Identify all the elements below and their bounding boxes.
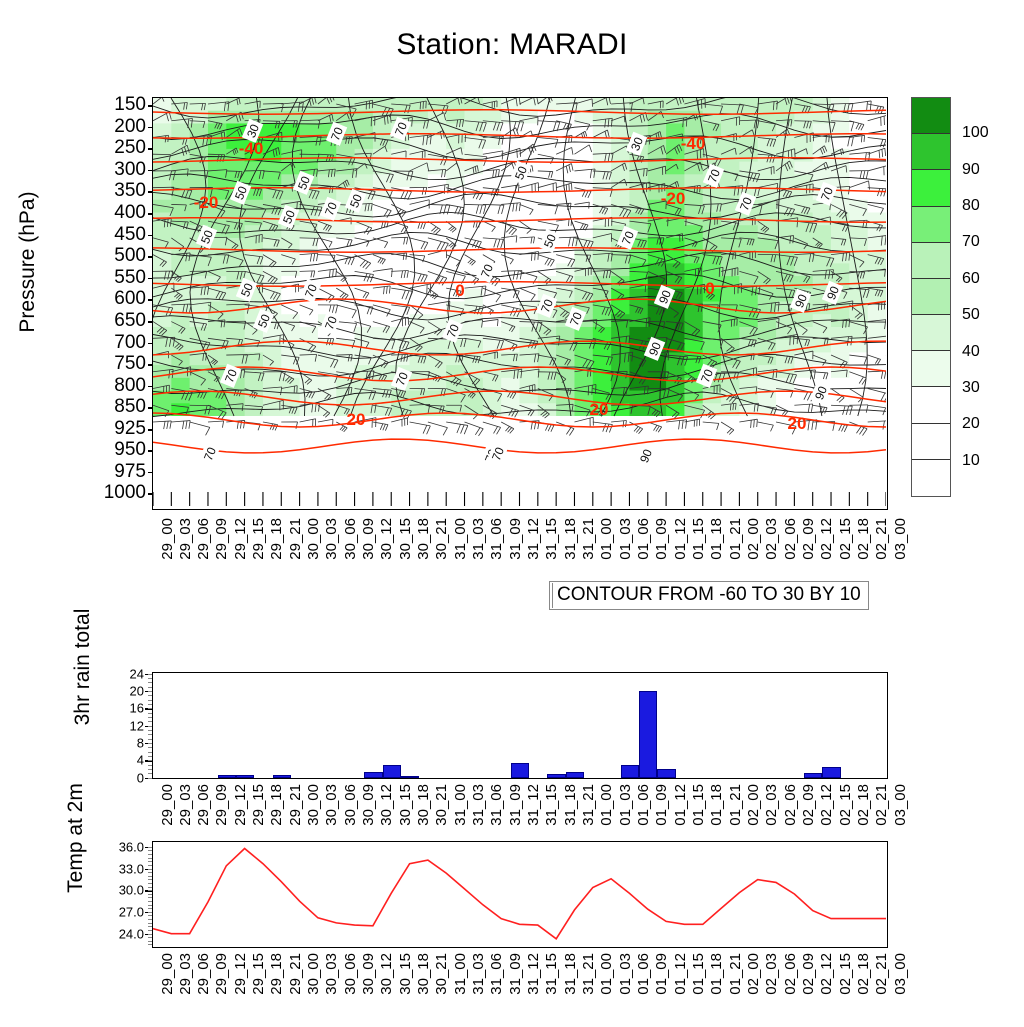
rain-bar[interactable] (566, 772, 584, 778)
x-tick-label: 30_18 (416, 953, 431, 1027)
x-tick-label: 02_09 (801, 953, 816, 1027)
temperature-contour-label: -20 (194, 193, 219, 212)
x-tick-label: 30_21 (434, 518, 449, 592)
x-tick-label: 29_00 (160, 953, 175, 1027)
x-tick-label: 31_12 (526, 518, 541, 592)
colorbar-cell (912, 243, 950, 279)
temperature-contour-label: 0 (455, 281, 464, 300)
temp-y-tick-labels: 24.027.030.033.036.0 (88, 841, 148, 948)
x-tick-label: 29_21 (288, 518, 303, 592)
x-tick-label: 31_15 (544, 953, 559, 1027)
x-tick-label: 30_15 (398, 518, 413, 592)
x-tick-label: 03_00 (893, 953, 908, 1027)
rain-bar-chart[interactable] (152, 672, 888, 779)
colorbar-cell (912, 207, 950, 243)
rain-bar[interactable] (639, 691, 657, 778)
x-tick-label: 29_03 (178, 953, 193, 1027)
temperature-contour-label: -40 (239, 139, 264, 158)
pressure-tick-label: 650 (88, 310, 146, 332)
colorbar-tick-label: 80 (962, 197, 980, 215)
x-tick-label: 29_18 (269, 953, 284, 1027)
x-tick-label: 01_09 (654, 953, 669, 1027)
x-tick-label: 30_00 (306, 518, 321, 592)
x-tick-label: 30_12 (379, 953, 394, 1027)
rain-tick-label: 24 (100, 666, 144, 681)
pressure-tick-label: 975 (88, 461, 146, 483)
temperature-contour-label: 20 (590, 400, 609, 419)
temperature-contour-label: -20 (661, 189, 686, 208)
x-tick-label: 29_15 (251, 518, 266, 592)
pressure-tick-label: 700 (88, 332, 146, 354)
x-tick-label: 30_09 (361, 518, 376, 592)
pressure-tick-label: 600 (88, 288, 146, 310)
x-tick-label: 01_18 (709, 953, 724, 1027)
x-tick-label: 03_00 (893, 784, 908, 858)
colorbar-tick-label: 10 (962, 452, 980, 470)
x-tick-label: 31_00 (453, 518, 468, 592)
x-tick-label: 02_00 (746, 953, 761, 1027)
x-tick-label: 30_09 (361, 953, 376, 1027)
x-tick-label: 29_09 (214, 518, 229, 592)
rain-bar[interactable] (822, 767, 840, 778)
rain-tick-label: 8 (100, 735, 144, 750)
x-tick-label: 29_00 (160, 518, 175, 592)
pressure-tick-label: 800 (88, 375, 146, 397)
sounding-svg: -40-40-20-200020202030707050505070707070… (153, 98, 886, 508)
rain-bar[interactable] (218, 775, 236, 778)
x-tick-label: 30_06 (343, 518, 358, 592)
colorbar-tick-label: 100 (962, 124, 989, 142)
x-tick-label: 31_21 (581, 953, 596, 1027)
x-tick-label: 03_00 (893, 518, 908, 592)
x-tick-label: 02_03 (764, 953, 779, 1027)
temperature-line (153, 849, 886, 939)
x-tick-label: 31_12 (526, 953, 541, 1027)
pressure-tick-label: 950 (88, 439, 146, 461)
pressure-tick-label: 250 (88, 137, 146, 159)
temp-tick-label: 30.0 (88, 883, 144, 898)
rain-y-axis-label: 3hr rain total (71, 577, 95, 757)
rain-bar[interactable] (621, 765, 639, 778)
pressure-tick-label: 750 (88, 353, 146, 375)
pressure-tick-label: 350 (88, 180, 146, 202)
x-tick-label: 29_21 (288, 953, 303, 1027)
rain-tick-label: 12 (100, 718, 144, 733)
pressure-tick-label: 550 (88, 267, 146, 289)
x-tick-label: 02_21 (874, 518, 889, 592)
x-tick-label: 01_21 (728, 953, 743, 1027)
rain-bar[interactable] (383, 765, 401, 778)
temperature-line-chart[interactable] (152, 841, 888, 948)
x-tick-label: 30_21 (434, 953, 449, 1027)
rain-tick-label: 4 (100, 753, 144, 768)
colorbar-tick-label: 90 (962, 161, 980, 179)
sounding-cross-section-plot[interactable]: -40-40-20-200020202030707050505070707070… (152, 97, 888, 510)
colorbar-tick-label: 70 (962, 233, 980, 251)
temp-tick-label: 24.0 (88, 926, 144, 941)
rain-bar[interactable] (401, 776, 419, 778)
pressure-tick-label: 300 (88, 159, 146, 181)
rain-bar[interactable] (657, 769, 675, 778)
contour-interval-note: CONTOUR FROM -60 TO 30 BY 10 (549, 581, 869, 610)
x-tick-label: 30_12 (379, 518, 394, 592)
main-y-tick-labels: 1502002503003504004505005506006507007508… (86, 97, 146, 510)
rain-tick-label: 0 (100, 770, 144, 785)
x-tick-label: 01_00 (599, 953, 614, 1027)
chart-page: Station: MARADI Pressure (hPa) 150200250… (0, 0, 1024, 1024)
humidity-colorbar[interactable] (911, 97, 951, 497)
x-tick-label: 01_15 (691, 953, 706, 1027)
rain-bar[interactable] (547, 774, 565, 778)
temp-x-axis-labels: 29_0029_0329_0629_0929_1229_1529_1829_21… (152, 953, 888, 1027)
x-tick-label: 29_18 (269, 518, 284, 592)
temperature-contour-label: 0 (705, 279, 714, 298)
page-title: Station: MARADI (0, 28, 1024, 62)
colorbar-tick-label: 40 (962, 343, 980, 361)
x-tick-label: 29_15 (251, 953, 266, 1027)
x-tick-label: 29_09 (214, 953, 229, 1027)
colorbar-cell (912, 460, 950, 496)
x-tick-label: 30_03 (324, 953, 339, 1027)
x-tick-label: 02_06 (783, 953, 798, 1027)
temperature-contour-label: 20 (788, 414, 807, 433)
x-tick-label: 29_12 (233, 518, 248, 592)
colorbar-tick-label: 20 (962, 415, 980, 433)
x-tick-label: 30_18 (416, 518, 431, 592)
temp-y-axis-label: Temp at 2m (64, 748, 88, 928)
rain-tick-label: 20 (100, 683, 144, 698)
pressure-tick-label: 500 (88, 245, 146, 267)
x-tick-label: 30_06 (343, 953, 358, 1027)
colorbar-cell (912, 134, 950, 170)
x-tick-label: 02_15 (838, 953, 853, 1027)
x-tick-label: 30_00 (306, 953, 321, 1027)
rain-bar[interactable] (364, 772, 382, 779)
x-tick-label: 29_06 (196, 518, 211, 592)
x-tick-label: 01_03 (618, 953, 633, 1027)
colorbar-tick-label: 30 (962, 379, 980, 397)
x-tick-label: 29_06 (196, 953, 211, 1027)
x-tick-label: 02_12 (819, 953, 834, 1027)
pressure-tick-label: 925 (88, 418, 146, 440)
x-tick-label: 01_12 (673, 953, 688, 1027)
x-tick-label: 31_18 (563, 953, 578, 1027)
pressure-tick-label: 150 (88, 94, 146, 116)
x-tick-label: 31_03 (471, 518, 486, 592)
temp-tick-label: 36.0 (88, 839, 144, 854)
colorbar-cell (912, 279, 950, 315)
pressure-tick-label: 200 (88, 116, 146, 138)
rain-bar[interactable] (804, 773, 822, 778)
x-tick-label: 02_18 (856, 953, 871, 1027)
x-tick-label: 01_06 (636, 953, 651, 1027)
temp-tick-label: 33.0 (88, 861, 144, 876)
rain-tick-label: 16 (100, 701, 144, 716)
temperature-svg (153, 842, 886, 946)
x-tick-label: 29_03 (178, 518, 193, 592)
colorbar-cell (912, 424, 950, 460)
colorbar-cell (912, 98, 950, 134)
pressure-tick-label: 450 (88, 224, 146, 246)
x-tick-label: 31_09 (508, 953, 523, 1027)
rain-y-tick-labels: 04812162024 (100, 672, 148, 779)
temperature-contour-label: -40 (681, 134, 706, 153)
colorbar-tick-label: 50 (962, 306, 980, 324)
rain-bar[interactable] (511, 763, 529, 778)
rain-bar[interactable] (236, 775, 254, 778)
pressure-tick-label: 1000 (88, 482, 146, 504)
x-tick-label: 29_12 (233, 953, 248, 1027)
pressure-tick-label: 400 (88, 202, 146, 224)
x-tick-label: 02_21 (874, 953, 889, 1027)
x-tick-label: 30_15 (398, 953, 413, 1027)
x-tick-label: 30_03 (324, 518, 339, 592)
temperature-contour-label: 20 (347, 410, 366, 429)
colorbar-cell (912, 351, 950, 387)
colorbar-tick-label: 60 (962, 270, 980, 288)
colorbar-cell (912, 387, 950, 423)
x-tick-label: 31_00 (453, 953, 468, 1027)
temp-tick-label: 27.0 (88, 904, 144, 919)
x-tick-label: 31_09 (508, 518, 523, 592)
colorbar-cell (912, 315, 950, 351)
pressure-tick-label: 850 (88, 396, 146, 418)
rain-bar[interactable] (273, 775, 291, 779)
x-tick-label: 31_03 (471, 953, 486, 1027)
x-tick-label: 31_06 (489, 518, 504, 592)
x-tick-label: 31_06 (489, 953, 504, 1027)
colorbar-cell (912, 170, 950, 206)
main-y-axis-label: Pressure (hPa) (16, 102, 40, 422)
